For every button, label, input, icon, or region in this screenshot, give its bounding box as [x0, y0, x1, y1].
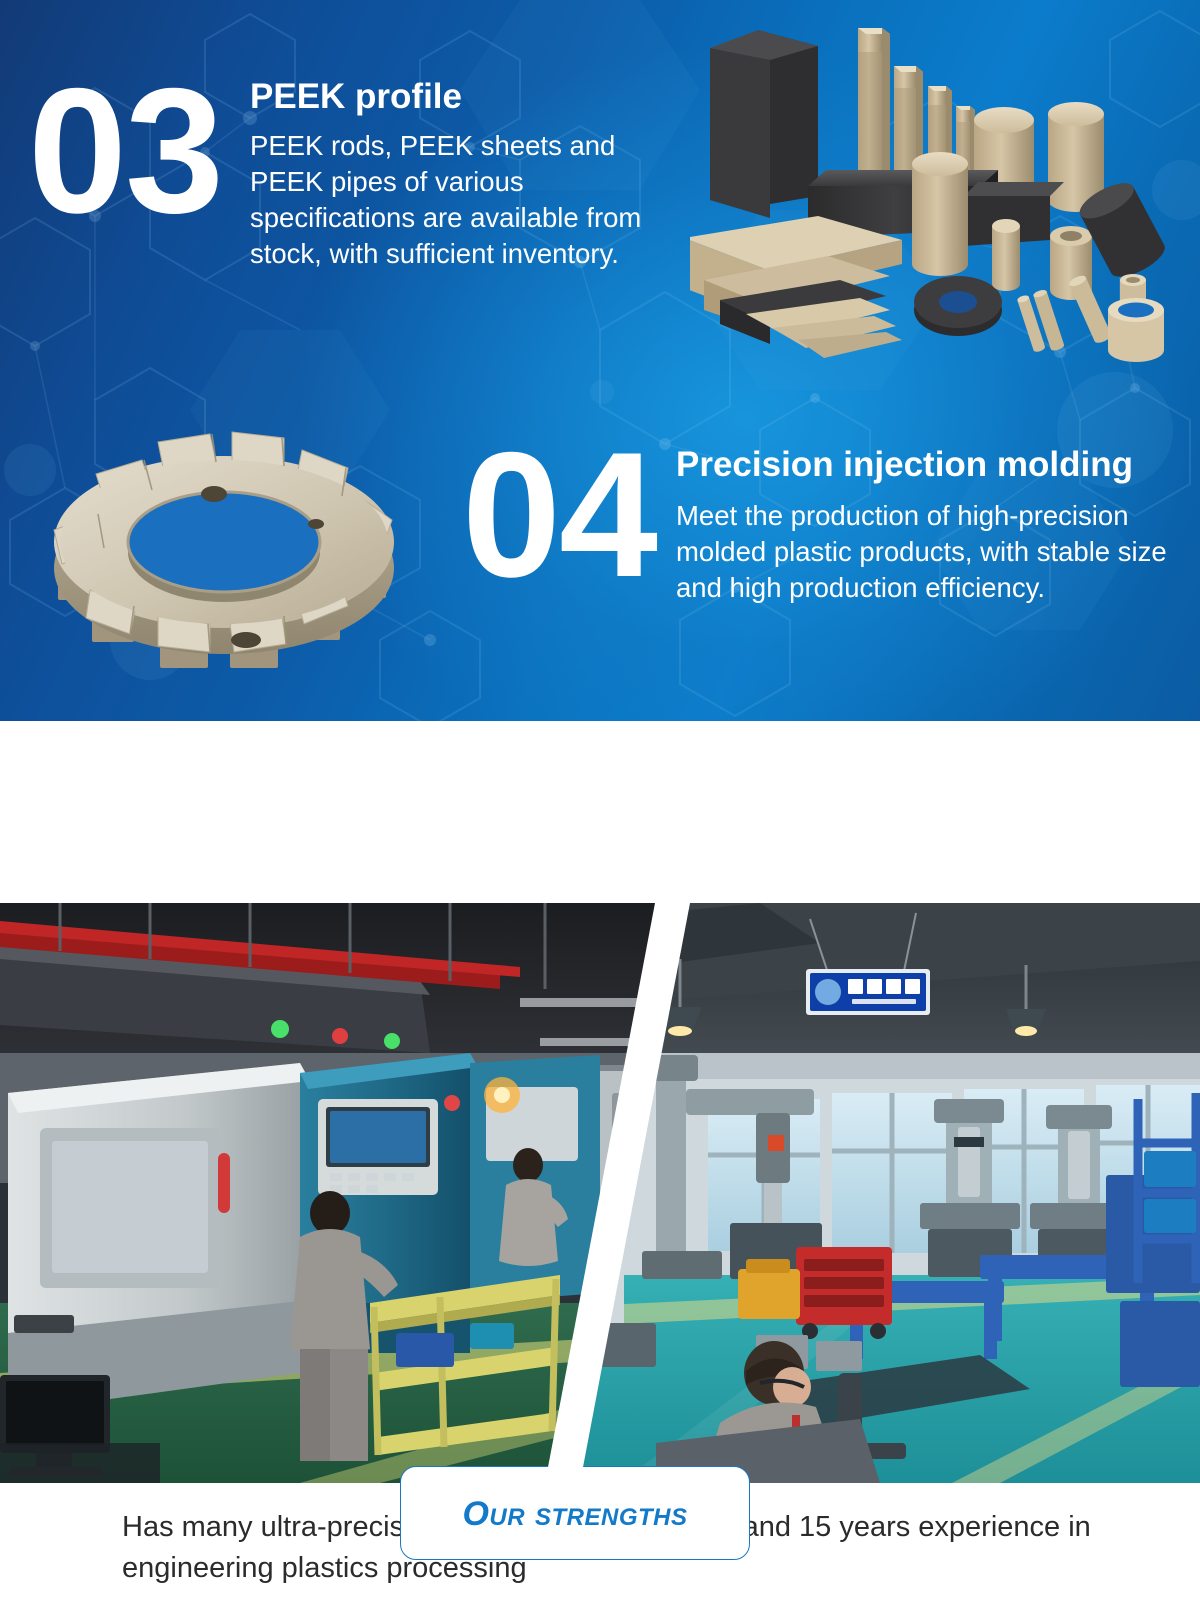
- hero-item-04-number: 04: [462, 426, 656, 604]
- hero-section: 03 PEEK profile PEEK rods, PEEK sheets a…: [0, 0, 1200, 721]
- peek-gear-ring-photo: [34, 402, 434, 682]
- hero-item-04-body: Meet the production of high-precision mo…: [676, 498, 1200, 606]
- strengths-banner-section: Our strengths: [0, 721, 1200, 903]
- strengths-label-box: Our strengths: [400, 1466, 750, 1560]
- cnc-machining-workshop-photo: [0, 903, 690, 1483]
- strengths-label: Our strengths: [462, 1495, 687, 1534]
- hero-item-03: 03 PEEK profile PEEK rods, PEEK sheets a…: [28, 62, 668, 322]
- hero-item-04-title: Precision injection molding: [676, 446, 1133, 485]
- hero-item-03-body: PEEK rods, PEEK sheets and PEEK pipes of…: [250, 128, 690, 272]
- mold-workshop-photo: [560, 903, 1200, 1483]
- hero-item-03-title: PEEK profile: [250, 78, 462, 117]
- peek-profiles-photo: [690, 18, 1190, 363]
- hero-item-03-number: 03: [28, 62, 222, 240]
- hero-item-04: 04 Precision injection molding Meet the …: [462, 436, 1182, 666]
- workshop-photos: [0, 903, 1200, 1483]
